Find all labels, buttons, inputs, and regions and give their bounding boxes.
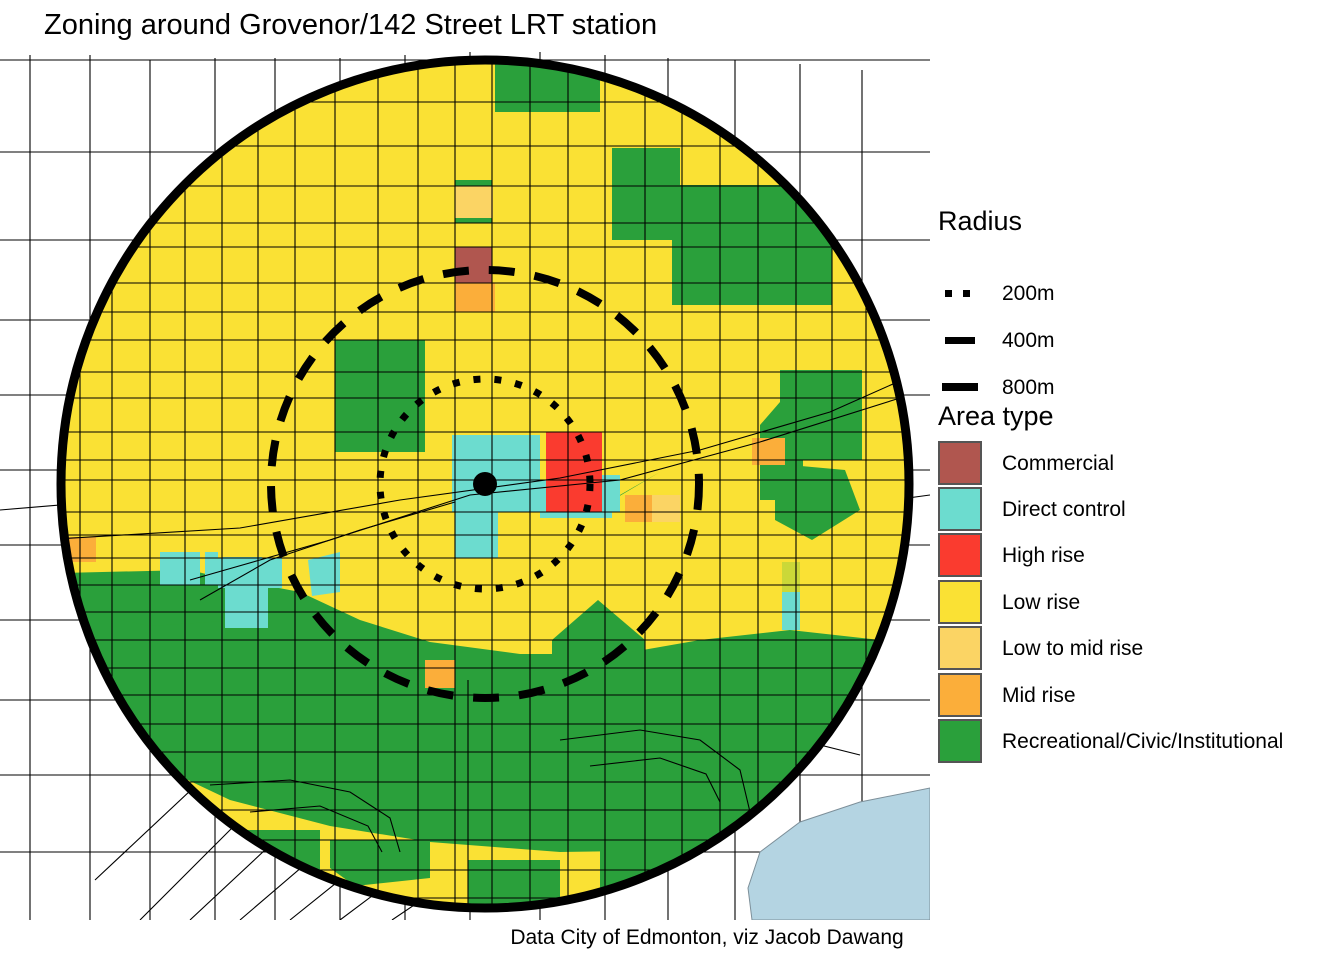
- legend-area-label-high-rise: High rise: [1002, 543, 1085, 568]
- dotted-line-icon: [938, 271, 982, 315]
- legend-area-item-mid-rise[interactable]: Mid rise: [938, 680, 1076, 710]
- legend-radius-title: Radius: [938, 205, 1022, 237]
- legend-radius-label-800m: 800m: [1002, 375, 1055, 400]
- map-panel[interactable]: [0, 40, 930, 920]
- station-centre-dot[interactable]: [473, 472, 497, 496]
- legend-area-item-high-rise[interactable]: High rise: [938, 540, 1085, 570]
- legend-radius-label-400m: 400m: [1002, 328, 1055, 353]
- swatch-commercial: [938, 441, 982, 485]
- legend-area-item-recreational[interactable]: Recreational/Civic/Institutional: [938, 726, 1283, 756]
- swatch-recreational: [938, 719, 982, 763]
- legend-area-item-low-to-mid-rise[interactable]: Low to mid rise: [938, 633, 1143, 663]
- page-title: Zoning around Grovenor/142 Street LRT st…: [44, 8, 657, 42]
- legend-area-type-title: Area type: [938, 400, 1054, 432]
- zoning-map-figure: Zoning around Grovenor/142 Street LRT st…: [0, 0, 1344, 960]
- swatch-direct-control: [938, 487, 982, 531]
- legend-area-item-low-rise[interactable]: Low rise: [938, 587, 1080, 617]
- swatch-low-rise: [938, 580, 982, 624]
- legend-area-label-recreational: Recreational/Civic/Institutional: [1002, 729, 1283, 754]
- legend-area-item-direct-control[interactable]: Direct control: [938, 494, 1126, 524]
- legend-area-label-mid-rise: Mid rise: [1002, 683, 1076, 708]
- legend-area-label-commercial: Commercial: [1002, 451, 1114, 476]
- legend-radius-item-800m[interactable]: 800m: [938, 372, 1055, 402]
- legend-area-label-low-rise: Low rise: [1002, 590, 1080, 615]
- dashed-line-icon: [938, 318, 982, 362]
- legend-radius-item-400m[interactable]: 400m: [938, 325, 1055, 355]
- legend-radius-label-200m: 200m: [1002, 281, 1055, 306]
- legend-area-item-commercial[interactable]: Commercial: [938, 448, 1114, 478]
- swatch-high-rise: [938, 533, 982, 577]
- swatch-mid-rise: [938, 673, 982, 717]
- legend-panel: Radius 200m 400m 800m Area type Commerci…: [930, 40, 1344, 920]
- swatch-low-to-mid-rise: [938, 626, 982, 670]
- legend-area-label-direct-control: Direct control: [1002, 497, 1126, 522]
- zone-high-rise-areas: [546, 432, 602, 512]
- source-caption: Data City of Edmonton, viz Jacob Dawang: [0, 925, 1344, 951]
- legend-area-label-low-to-mid-rise: Low to mid rise: [1002, 636, 1143, 661]
- map-canvas[interactable]: [0, 40, 930, 920]
- legend-radius-item-200m[interactable]: 200m: [938, 278, 1055, 308]
- zone-commercial-areas: [455, 247, 492, 283]
